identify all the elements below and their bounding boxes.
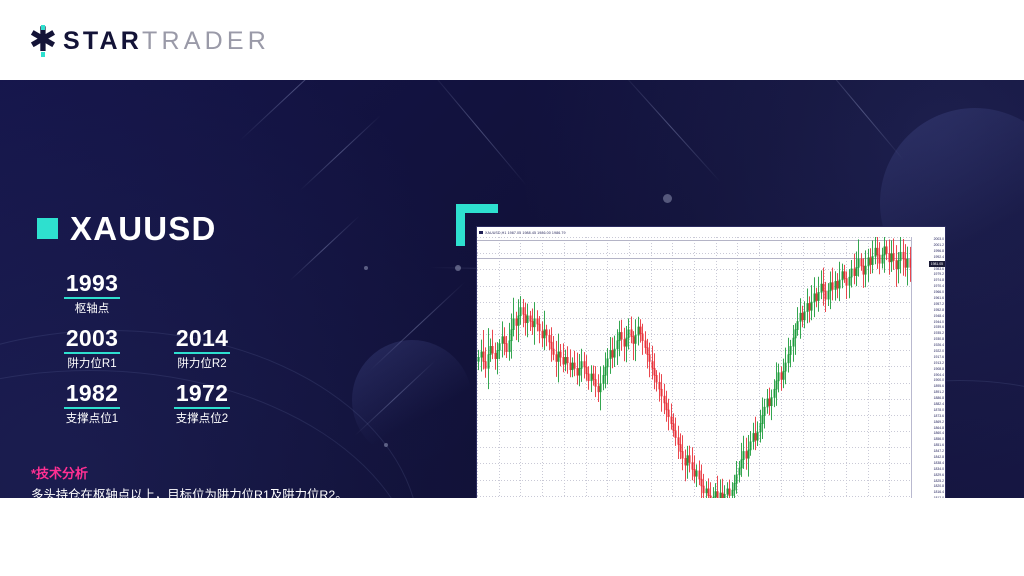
price-tick: 1952.8 — [934, 308, 944, 312]
level-underline — [64, 352, 120, 354]
price-tick: 1930.8 — [934, 337, 944, 341]
decor-dot-2 — [364, 266, 368, 270]
price-tick: 1979.2 — [934, 272, 944, 276]
level-value: 2003 — [37, 325, 147, 351]
asterisk-star-icon: ✱ — [28, 26, 58, 56]
price-tick: 1860.4 — [934, 431, 944, 435]
price-tick: 1908.8 — [934, 367, 944, 371]
level-value: 1972 — [147, 380, 257, 406]
price-tick: 1900.0 — [934, 378, 944, 382]
chart-title-marker-icon — [479, 231, 483, 234]
logo-pip-bottom — [41, 52, 45, 57]
price-tick: 1996.8 — [934, 249, 944, 253]
level-resistance-2: 2014 阱力位R2 — [147, 325, 257, 380]
level-underline — [174, 352, 230, 354]
brand-logo: ✱ STARTRADER — [28, 26, 270, 56]
mt4-chart-window[interactable]: XAUUSD,H1 1987.05 1988.45 1986.00 1986.7… — [476, 226, 946, 498]
level-label: 支撑点位2 — [147, 412, 257, 426]
level-label: 阱力位R2 — [147, 357, 257, 371]
price-tick: 1913.2 — [934, 361, 944, 365]
level-label: 支撑点位1 — [37, 412, 147, 426]
price-tick: 1891.2 — [934, 390, 944, 394]
decor-dot-1 — [455, 265, 461, 271]
chart-price-axis[interactable]: 2003.02001.21996.81992.41981.051983.6197… — [911, 237, 945, 498]
level-value: 2014 — [147, 325, 257, 351]
price-tick: 1974.8 — [934, 278, 944, 282]
price-tick: 1944.0 — [934, 320, 944, 324]
analysis-title: *技术分析 — [31, 466, 406, 482]
price-tick: 1961.6 — [934, 296, 944, 300]
price-tick: 1922.0 — [934, 349, 944, 353]
level-value: 1982 — [37, 380, 147, 406]
price-tick: 1820.8 — [934, 484, 944, 488]
level-label: 阱力位R1 — [37, 357, 147, 371]
levels-grid: 1993 枢轴点 2003 阱力位R1 2014 阱力位R2 1982 支撑点 — [37, 270, 287, 435]
price-tick: 1825.2 — [934, 479, 944, 483]
price-tick: 2001.2 — [934, 243, 944, 247]
page-title: XAUUSD — [70, 212, 217, 245]
price-tick: 1904.4 — [934, 373, 944, 377]
price-tick: 1970.4 — [934, 284, 944, 288]
price-tick: 1926.4 — [934, 343, 944, 347]
level-label: 枢轴点 — [37, 302, 147, 316]
price-tick: 1829.6 — [934, 473, 944, 477]
level-support-1: 1982 支撑点位1 — [37, 380, 147, 435]
price-tick: 1966.0 — [934, 290, 944, 294]
level-underline — [174, 407, 230, 409]
price-tick: 1856.0 — [934, 437, 944, 441]
level-underline — [64, 407, 120, 409]
level-support-2: 1972 支撑点位2 — [147, 380, 257, 435]
page-footer: 汇评 | 2023年11月06日 — [0, 498, 1024, 576]
level-resistance-1: 2003 阱力位R1 — [37, 325, 147, 380]
price-tick: 1878.0 — [934, 408, 944, 412]
level-underline — [64, 297, 120, 299]
price-tick: 1847.2 — [934, 449, 944, 453]
brand-name-light: TRADER — [142, 27, 270, 55]
price-tick: 1816.4 — [934, 490, 944, 494]
levels-row: 1982 支撑点位1 1972 支撑点位2 — [37, 380, 287, 435]
chart-title: XAUUSD,H1 1987.05 1988.45 1986.00 1986.7… — [479, 228, 566, 237]
analysis-body: 多头持仓在枢轴点以上，目标位为阱力位R1及阱力位R2。 若低于枢轴点，则可能下跌… — [31, 487, 406, 498]
price-tick: 1882.4 — [934, 402, 944, 406]
page-header: ✱ STARTRADER — [0, 0, 1024, 80]
price-tick: 1917.6 — [934, 355, 944, 359]
price-tick: 1935.2 — [934, 331, 944, 335]
price-tick: 1869.2 — [934, 420, 944, 424]
hero-stage: XAUUSD 1993 枢轴点 2003 阱力位R1 2014 阱力位R2 — [0, 80, 1024, 498]
price-tick: 1948.4 — [934, 314, 944, 318]
chart-plot-area[interactable] — [477, 237, 911, 498]
price-tick: 1957.2 — [934, 302, 944, 306]
square-bullet-icon — [37, 218, 58, 239]
brand-name-bold: STAR — [63, 27, 142, 55]
price-tick: 1895.6 — [934, 384, 944, 388]
chart-title-text: XAUUSD,H1 1987.05 1988.45 1986.00 1986.7… — [485, 231, 566, 235]
brand-name: STARTRADER — [63, 27, 270, 56]
price-tick: 2003.0 — [934, 237, 944, 241]
price-tick: 1864.8 — [934, 426, 944, 430]
price-tick: 1842.8 — [934, 455, 944, 459]
level-value: 1993 — [37, 270, 147, 296]
price-tick: 1992.4 — [934, 255, 944, 259]
price-tick: 1851.6 — [934, 443, 944, 447]
analysis-line: 多头持仓在枢轴点以上，目标位为阱力位R1及阱力位R2。 — [31, 487, 406, 498]
levels-row: 1993 枢轴点 — [37, 270, 287, 325]
levels-row: 2003 阱力位R1 2014 阱力位R2 — [37, 325, 287, 380]
decor-dot-4 — [663, 194, 672, 203]
price-tick: 1939.6 — [934, 325, 944, 329]
symbol-heading: XAUUSD — [37, 212, 217, 245]
price-tick: 1834.0 — [934, 467, 944, 471]
price-tick: 1983.6 — [934, 267, 944, 271]
price-tick: 1838.4 — [934, 461, 944, 465]
price-tick: 1886.8 — [934, 396, 944, 400]
technical-analysis-block: *技术分析 多头持仓在枢轴点以上，目标位为阱力位R1及阱力位R2。 若低于枢轴点… — [31, 466, 406, 498]
price-tick: 1873.6 — [934, 414, 944, 418]
logo-pip-top — [41, 25, 45, 30]
level-pivot: 1993 枢轴点 — [37, 270, 147, 325]
